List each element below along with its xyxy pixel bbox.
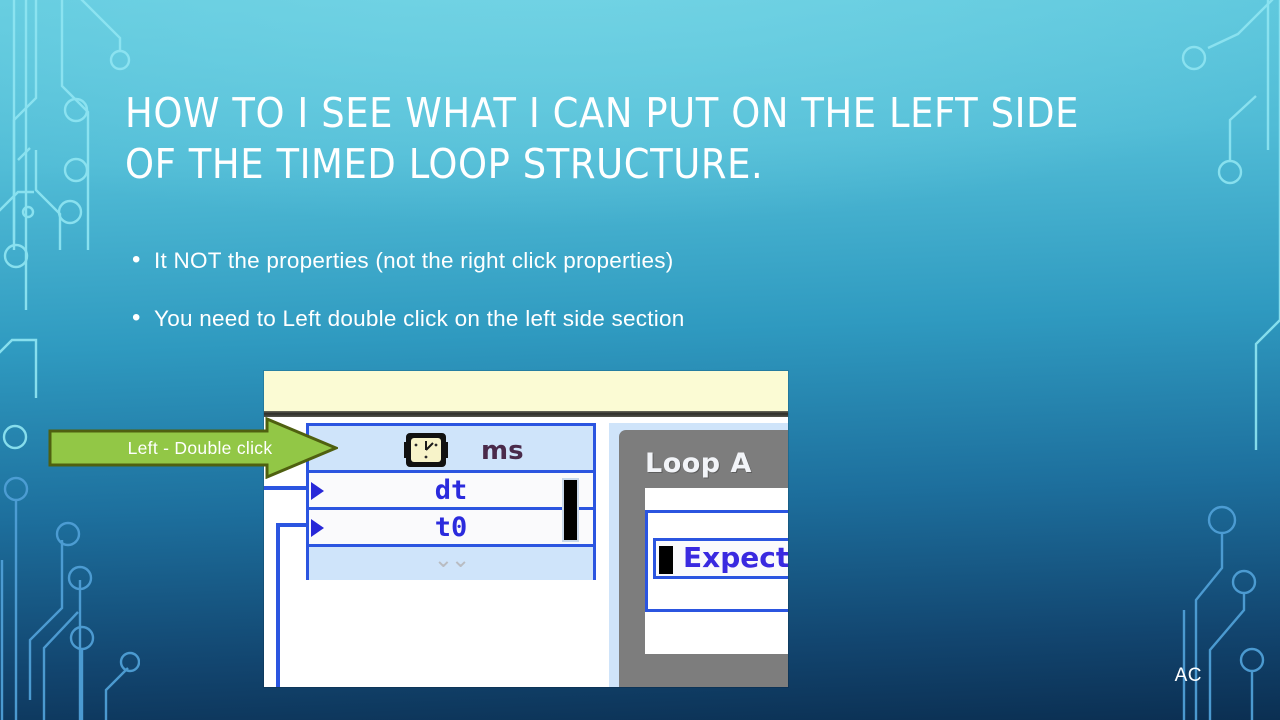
labview-expect-marker-icon <box>659 546 673 574</box>
callout-text: Left - Double click <box>48 417 310 479</box>
slide-title-line-1: HOW TO I SEE WHAT I CAN PUT ON THE LEFT … <box>125 88 1155 139</box>
circuit-decoration-right <box>1140 0 1280 720</box>
labview-expect-label: Expect <box>683 541 788 574</box>
labview-wire-t0-vertical <box>276 523 280 687</box>
bullet-item-1: • It NOT the properties (not the right c… <box>128 246 1028 276</box>
labview-expect-row: Expect <box>653 538 788 579</box>
labview-loop-title: Loop A <box>645 448 752 479</box>
labview-terminal-label-t0: t0 <box>309 512 593 543</box>
callout-arrow: Left - Double click <box>48 417 338 479</box>
slide-canvas: HOW TO I SEE WHAT I CAN PUT ON THE LEFT … <box>0 0 1280 720</box>
chevron-down-icon: ⌄⌄ <box>309 548 593 571</box>
labview-timed-loop-header[interactable]: ms <box>309 426 593 473</box>
labview-loop-content: Expect <box>645 488 788 654</box>
labview-loop-inner-frame: Expect <box>645 510 788 612</box>
author-initials: AC <box>1175 665 1202 687</box>
bullet-marker-icon: • <box>132 245 141 275</box>
labview-units-label: ms <box>481 436 524 466</box>
labview-wire-t0 <box>276 523 310 527</box>
bullet-text-2: You need to Left double click on the lef… <box>154 306 685 331</box>
bullet-text-1: It NOT the properties (not the right cli… <box>154 248 674 273</box>
labview-divider-line <box>264 411 788 417</box>
labview-terminal-label-dt: dt <box>309 475 593 506</box>
circuit-decoration-left <box>0 0 140 720</box>
slide-title: HOW TO I SEE WHAT I CAN PUT ON THE LEFT … <box>125 88 1155 190</box>
labview-terminal-t0[interactable]: t0 <box>309 510 593 547</box>
slide-title-line-2: OF THE TIMED LOOP STRUCTURE. <box>125 139 1155 190</box>
labview-screenshot: Loop A Expect <box>264 371 788 687</box>
labview-selection-bar <box>562 478 579 542</box>
labview-node-expander[interactable]: ⌄⌄ <box>309 547 593 580</box>
labview-loop-panel: Loop A Expect <box>609 423 788 687</box>
bullet-item-2: • You need to Left double click on the l… <box>128 304 1028 334</box>
labview-terminal-dt[interactable]: dt <box>309 473 593 510</box>
labview-wire-dt <box>264 486 310 490</box>
labview-loop-body: Loop A Expect <box>619 430 788 687</box>
labview-top-band <box>264 371 788 411</box>
clock-icon <box>403 430 449 470</box>
labview-timed-loop-input-node[interactable]: ms dt t0 ⌄⌄ <box>306 423 596 580</box>
bullet-list: • It NOT the properties (not the right c… <box>128 246 1028 362</box>
bullet-marker-icon: • <box>132 303 141 333</box>
